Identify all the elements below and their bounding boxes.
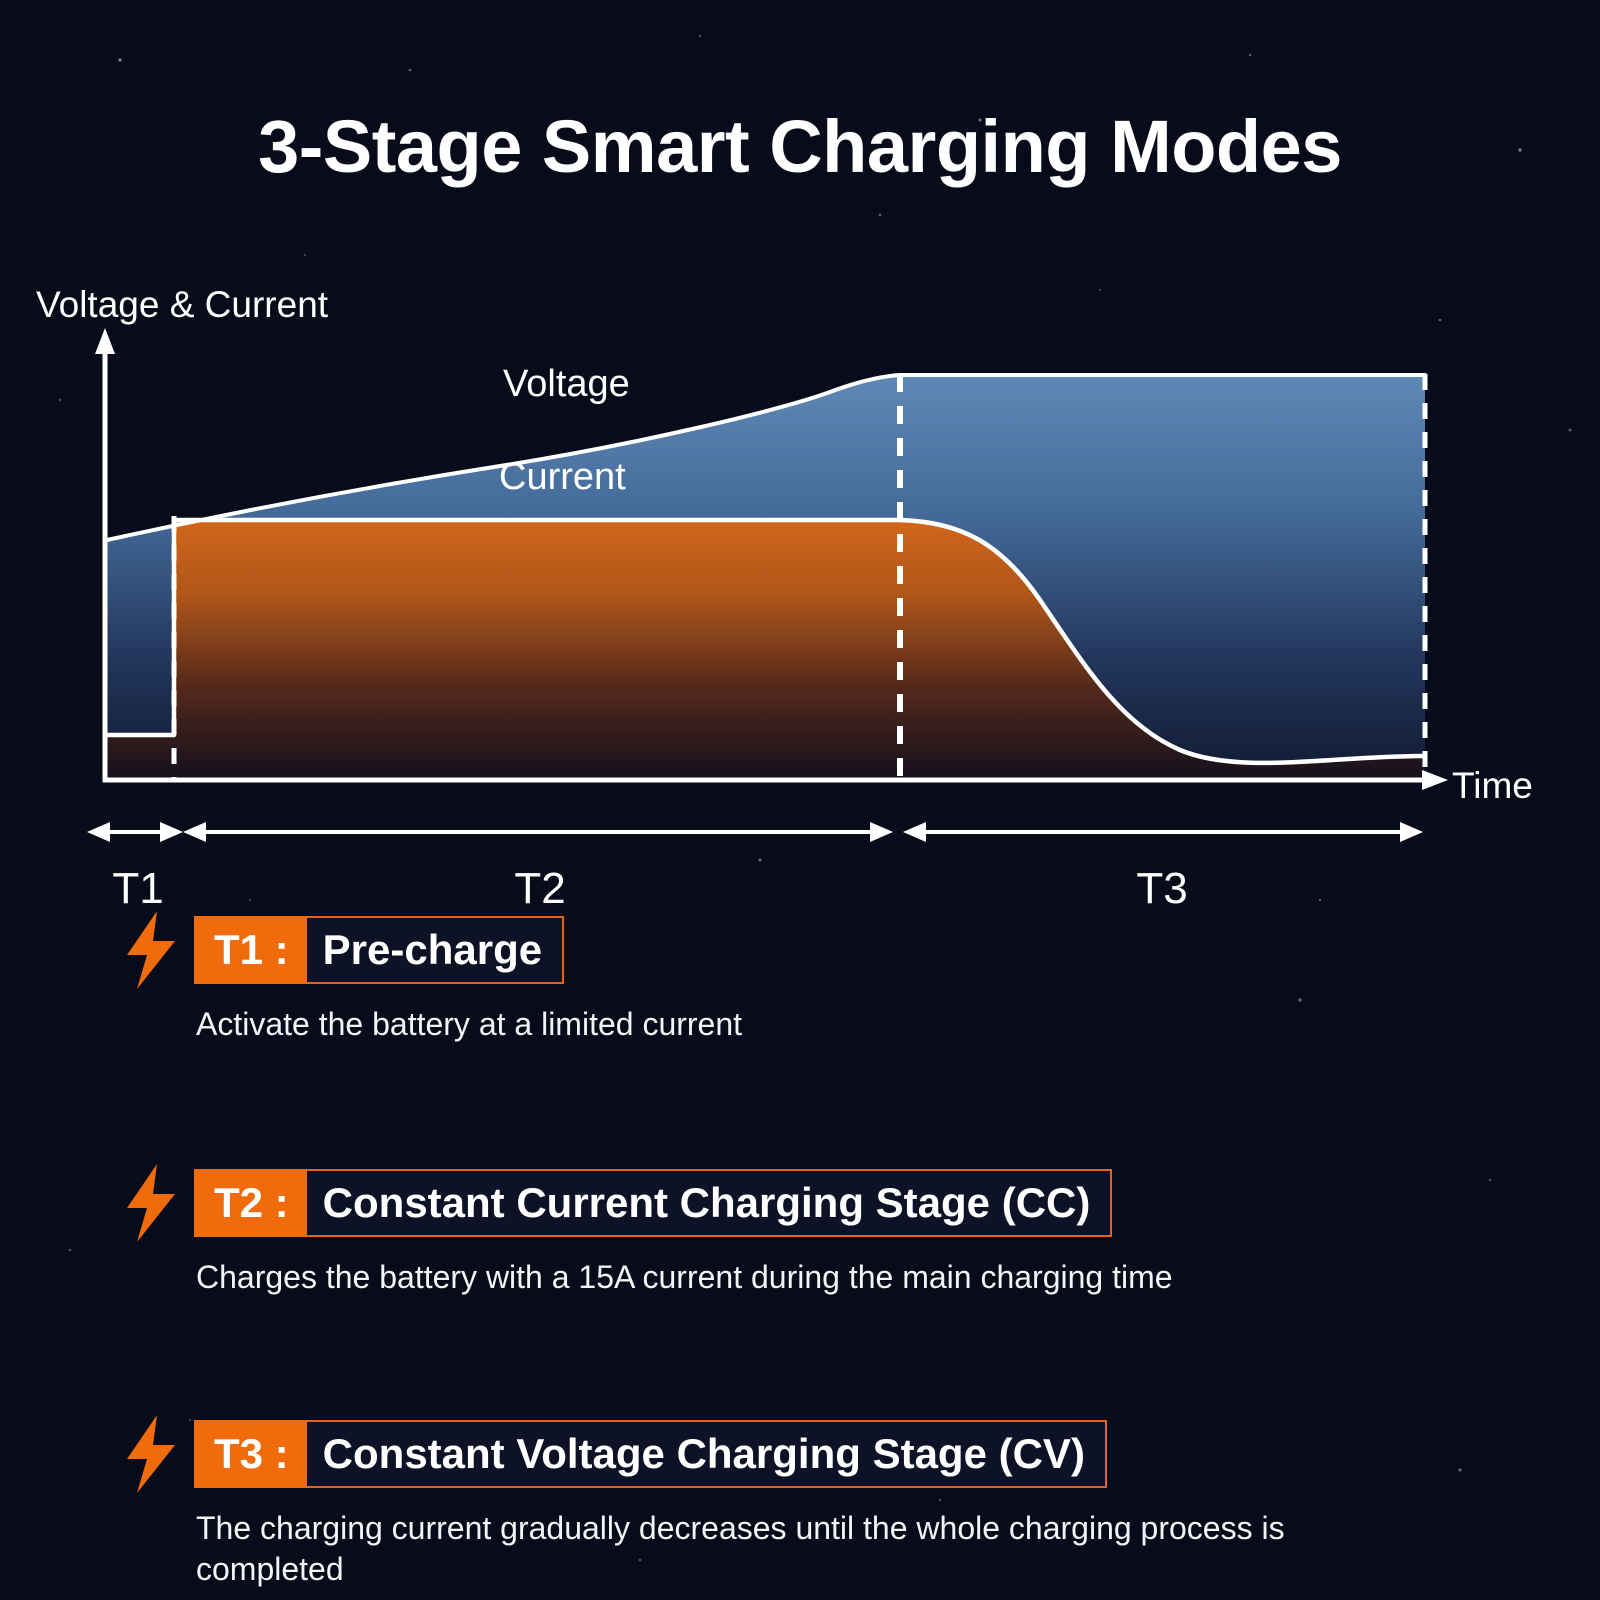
charging-curve-chart: Voltage & Current Time	[0, 270, 1600, 870]
legend-row-t3: T3 : Constant Voltage Charging Stage (CV…	[0, 1420, 1600, 1590]
stage-measure-arrows	[92, 825, 1418, 839]
y-axis-arrowhead	[95, 328, 115, 354]
stage-description-t2: Charges the battery with a 15A current d…	[196, 1257, 1406, 1298]
stage-badge-t1: T1 : Pre-charge	[194, 916, 564, 984]
stage-legend: T1 : Pre-charge Activate the battery at …	[0, 916, 1600, 1590]
x-axis-label: Time	[1452, 765, 1533, 807]
infographic-page: 3-Stage Smart Charging Modes Voltage & C…	[0, 0, 1600, 1600]
lightning-bolt-icon	[108, 916, 194, 984]
stage-tag-t1: T1	[112, 864, 163, 914]
stage-tag-t3: T3	[1136, 864, 1187, 914]
stage-badge-value-t2: Constant Current Charging Stage (CC)	[307, 1171, 1111, 1235]
stage-tag-t2: T2	[514, 864, 565, 914]
series-label-voltage: Voltage	[503, 363, 630, 406]
stage-description-t1: Activate the battery at a limited curren…	[196, 1004, 1406, 1045]
legend-row-t2: T2 : Constant Current Charging Stage (CC…	[0, 1169, 1600, 1298]
series-label-current: Current	[499, 456, 626, 499]
stage-badge-key-t3: T3 :	[194, 1420, 307, 1488]
stage-badge-key-t1: T1 :	[194, 916, 307, 984]
stage-badge-value-t1: Pre-charge	[307, 918, 562, 982]
chart-plot	[0, 270, 1600, 870]
lightning-bolt-icon	[108, 1169, 194, 1237]
stage-badge-t2: T2 : Constant Current Charging Stage (CC…	[194, 1169, 1112, 1237]
stage-badge-key-t2: T2 :	[194, 1169, 307, 1237]
x-axis-arrowhead	[1422, 770, 1448, 790]
stage-badge-value-t3: Constant Voltage Charging Stage (CV)	[307, 1422, 1105, 1486]
stage-description-t3: The charging current gradually decreases…	[196, 1508, 1406, 1590]
y-axis-label: Voltage & Current	[36, 284, 328, 326]
legend-row-t1: T1 : Pre-charge Activate the battery at …	[0, 916, 1600, 1045]
stage-badge-t3: T3 : Constant Voltage Charging Stage (CV…	[194, 1420, 1107, 1488]
page-title: 3-Stage Smart Charging Modes	[0, 104, 1600, 189]
lightning-bolt-icon	[108, 1420, 194, 1488]
